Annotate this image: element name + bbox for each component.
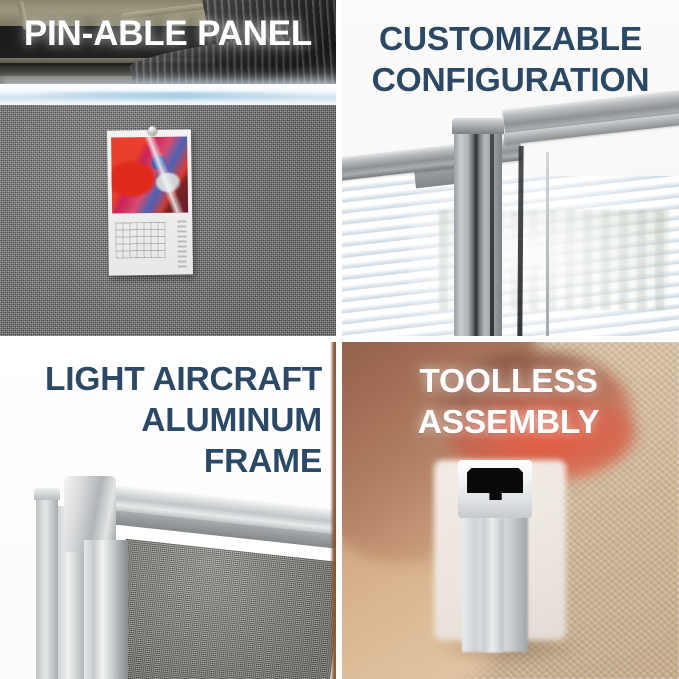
panel-caption-pin-able-panel: PIN-ABLE PANEL <box>0 16 336 52</box>
panel-right-edge <box>330 342 336 679</box>
aluminum-profile-web <box>482 518 504 652</box>
panel-caption-toolless-assembly: TOOLLESS ASSEMBLY <box>348 362 669 444</box>
panel-pin-able-panel: PIN-ABLE PANEL <box>0 0 336 336</box>
rear-post-cap <box>34 488 60 500</box>
push-pin-icon <box>148 126 157 135</box>
calendar-date-grid <box>115 222 165 259</box>
corner-post-cap <box>452 118 504 134</box>
panel-light-aircraft-aluminum-frame: LIGHT AIRCRAFT ALUMINUM FRAME <box>0 342 336 679</box>
corner-post <box>454 126 502 336</box>
aluminum-corner-post <box>84 540 128 679</box>
panel-customizable-configuration: CUSTOMIZABLE CONFIGURATION <box>342 0 679 336</box>
corner-post-seam <box>490 128 494 336</box>
calendar-artwork <box>111 136 188 213</box>
rear-post <box>36 494 58 679</box>
panel-caption-customizable-configuration: CUSTOMIZABLE CONFIGURATION <box>348 20 673 102</box>
product-feature-collage: PIN-ABLE PANEL CUSTOMIZABLE CONFIGURATIO… <box>0 0 679 679</box>
panel-caption-light-aircraft-aluminum-frame: LIGHT AIRCRAFT ALUMINUM FRAME <box>6 360 322 483</box>
pinned-calendar <box>107 129 193 275</box>
glazing-mullion-secondary <box>546 152 549 336</box>
panel-toolless-assembly: TOOLLESS ASSEMBLY <box>342 342 679 679</box>
calendar-month-label <box>177 219 187 267</box>
